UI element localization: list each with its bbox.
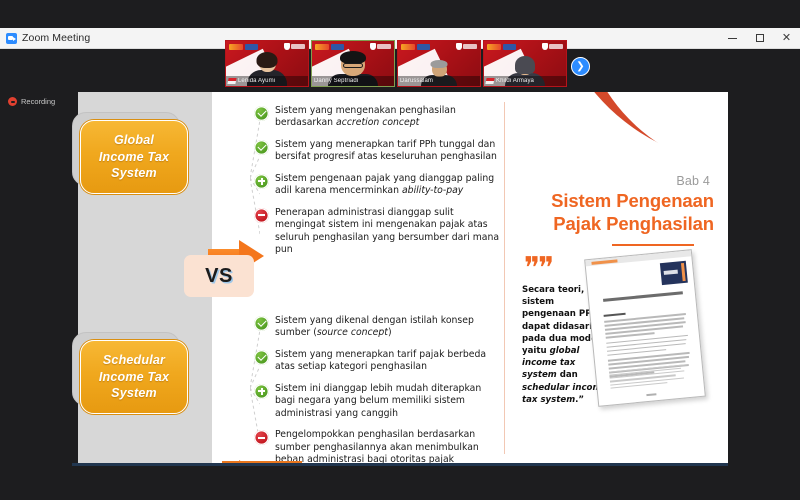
system-label-schedular: SchedularIncome TaxSystem — [80, 340, 188, 414]
bullet-text: Sistem yang mengenakan penghasilan berda… — [275, 105, 502, 130]
tile-logo-group — [401, 44, 430, 50]
participant-name-bar: Lenida Ayumi — [226, 76, 308, 86]
tile-logo-right — [370, 43, 392, 50]
list-item: Penerapan administrasi dianggap sulit me… — [254, 207, 502, 257]
organization-logo-icon — [245, 44, 258, 50]
slide-bottom-accent — [72, 463, 728, 466]
thumbnail-heading-line — [603, 291, 683, 302]
shield-icon — [370, 43, 376, 50]
quote-mark-icon: ❞❞ — [524, 260, 552, 278]
institution-wordmark-icon — [377, 44, 391, 49]
bullet-group-schedular: Sistem yang dikenal dengan istilah konse… — [254, 315, 502, 463]
bullet-text: Sistem yang menerapkan tarif PPh tunggal… — [275, 139, 502, 164]
participant-name-bar: Danny Septriadi — [312, 76, 394, 86]
maximize-icon — [756, 34, 764, 42]
list-item: Sistem yang dikenal dengan istilah konse… — [254, 315, 502, 340]
recording-label: Recording — [21, 97, 55, 106]
institution-wordmark-icon — [291, 44, 305, 49]
list-item: Sistem yang mengenakan penghasilan berda… — [254, 105, 502, 130]
organization-logo-icon — [503, 44, 516, 50]
chapter-title-line1: Sistem Pengenaan — [551, 190, 714, 211]
flag-icon — [485, 78, 494, 84]
page-title: Sistem Pengenaan Pajak Penghasilan — [494, 190, 714, 236]
participant-name-bar: Darussalam — [398, 76, 480, 86]
shield-icon — [542, 43, 548, 50]
bullet-text: Sistem yang menerapkan tarif pajak berbe… — [275, 349, 502, 374]
chapter-title-line2: Pajak Penghasilan — [553, 213, 714, 234]
institution-wordmark-icon — [549, 44, 563, 49]
organization-logo-icon — [331, 44, 344, 50]
system-label-global: GlobalIncome TaxSystem — [80, 120, 188, 194]
check-circle-icon — [254, 316, 269, 331]
document-thumbnail-icon — [584, 249, 706, 407]
participant-filmstrip: Lenida Ayumi Danny Septriadi — [225, 40, 567, 87]
participant-name: Danny Septriadi — [314, 78, 358, 84]
recording-indicator[interactable]: Recording — [8, 97, 55, 106]
system-label-text: GlobalIncome TaxSystem — [99, 132, 169, 183]
system-label-text: SchedularIncome TaxSystem — [99, 352, 169, 403]
close-button[interactable]: ✕ — [773, 28, 800, 49]
minus-circle-icon — [254, 430, 269, 445]
bullet-text: Sistem yang dikenal dengan istilah konse… — [275, 315, 502, 340]
sponsor-logo-icon — [315, 44, 329, 50]
window-title: Zoom Meeting — [22, 32, 90, 44]
system-label-pill: GlobalIncome TaxSystem — [80, 120, 188, 194]
tile-logo-right — [284, 43, 306, 50]
chapter-eyebrow: Bab 4 — [676, 174, 710, 188]
sponsor-logo-icon — [487, 44, 501, 50]
tile-logo-right — [456, 43, 478, 50]
system-label-pill: SchedularIncome TaxSystem — [80, 340, 188, 414]
flag-icon — [227, 78, 236, 84]
shield-icon — [456, 43, 462, 50]
participant-tile[interactable]: Khildi Armaya — [483, 40, 567, 87]
participant-name: Darussalam — [400, 78, 433, 84]
bullet-text: Pengelompokkan penghasilan berdasarkan s… — [275, 429, 502, 463]
list-item: Pengelompokkan penghasilan berdasarkan s… — [254, 429, 502, 463]
decorative-swoosh-white — [580, 92, 728, 186]
participant-name-bar: Khildi Armaya — [484, 76, 566, 86]
bullet-group-global: Sistem yang mengenakan penghasilan berda… — [254, 105, 502, 266]
check-circle-icon — [254, 140, 269, 155]
column-divider — [504, 102, 505, 454]
participant-name: Lenida Ayumi — [238, 78, 275, 84]
bullet-text: Penerapan administrasi dianggap sulit me… — [275, 207, 502, 257]
thumbnail-page-number — [646, 393, 656, 396]
participant-name: Khildi Armaya — [496, 78, 534, 84]
organization-logo-icon — [417, 44, 430, 50]
minimize-icon — [728, 38, 737, 39]
minimize-button[interactable] — [719, 28, 746, 49]
tile-logo-group — [487, 44, 516, 50]
plus-circle-icon — [254, 384, 269, 399]
zoom-logo-icon — [6, 33, 17, 44]
participant-tile[interactable]: Danny Septriadi — [311, 40, 395, 87]
shared-presentation-slide[interactable]: GlobalIncome TaxSystem SchedularIncome T… — [72, 92, 728, 463]
sponsor-logo-icon — [229, 44, 243, 50]
tile-logo-group — [315, 44, 344, 50]
sponsor-logo-icon — [401, 44, 415, 50]
list-item: Sistem yang menerapkan tarif PPh tunggal… — [254, 139, 502, 164]
vs-badge: VS — [184, 255, 254, 297]
thumbnail-chapter-badge — [660, 261, 688, 285]
maximize-button[interactable] — [746, 28, 773, 49]
tile-logo-right — [542, 43, 564, 50]
list-item: Sistem pengenaan pajak yang dianggap pal… — [254, 173, 502, 198]
close-icon: ✕ — [782, 33, 791, 44]
vs-label: VS — [205, 265, 233, 288]
filmstrip-next-page-button[interactable]: ❯ — [571, 57, 590, 76]
chevron-right-icon: ❯ — [576, 62, 584, 72]
plus-circle-icon — [254, 174, 269, 189]
title-underline — [612, 244, 694, 246]
shield-icon — [284, 43, 290, 50]
check-circle-icon — [254, 350, 269, 365]
institution-wordmark-icon — [463, 44, 477, 49]
bullet-text: Sistem pengenaan pajak yang dianggap pal… — [275, 173, 502, 198]
list-item: Sistem ini dianggap lebih mudah diterapk… — [254, 383, 502, 420]
participant-tile[interactable]: Darussalam — [397, 40, 481, 87]
minus-circle-icon — [254, 208, 269, 223]
zoom-meeting-window: Zoom Meeting ✕ — [0, 0, 800, 500]
bullet-text: Sistem ini dianggap lebih mudah diterapk… — [275, 383, 502, 420]
window-controls: ✕ — [719, 28, 800, 49]
participant-tile[interactable]: Lenida Ayumi — [225, 40, 309, 87]
recording-indicator-icon — [8, 97, 17, 106]
list-item: Sistem yang menerapkan tarif pajak berbe… — [254, 349, 502, 374]
check-circle-icon — [254, 106, 269, 121]
tile-logo-group — [229, 44, 258, 50]
